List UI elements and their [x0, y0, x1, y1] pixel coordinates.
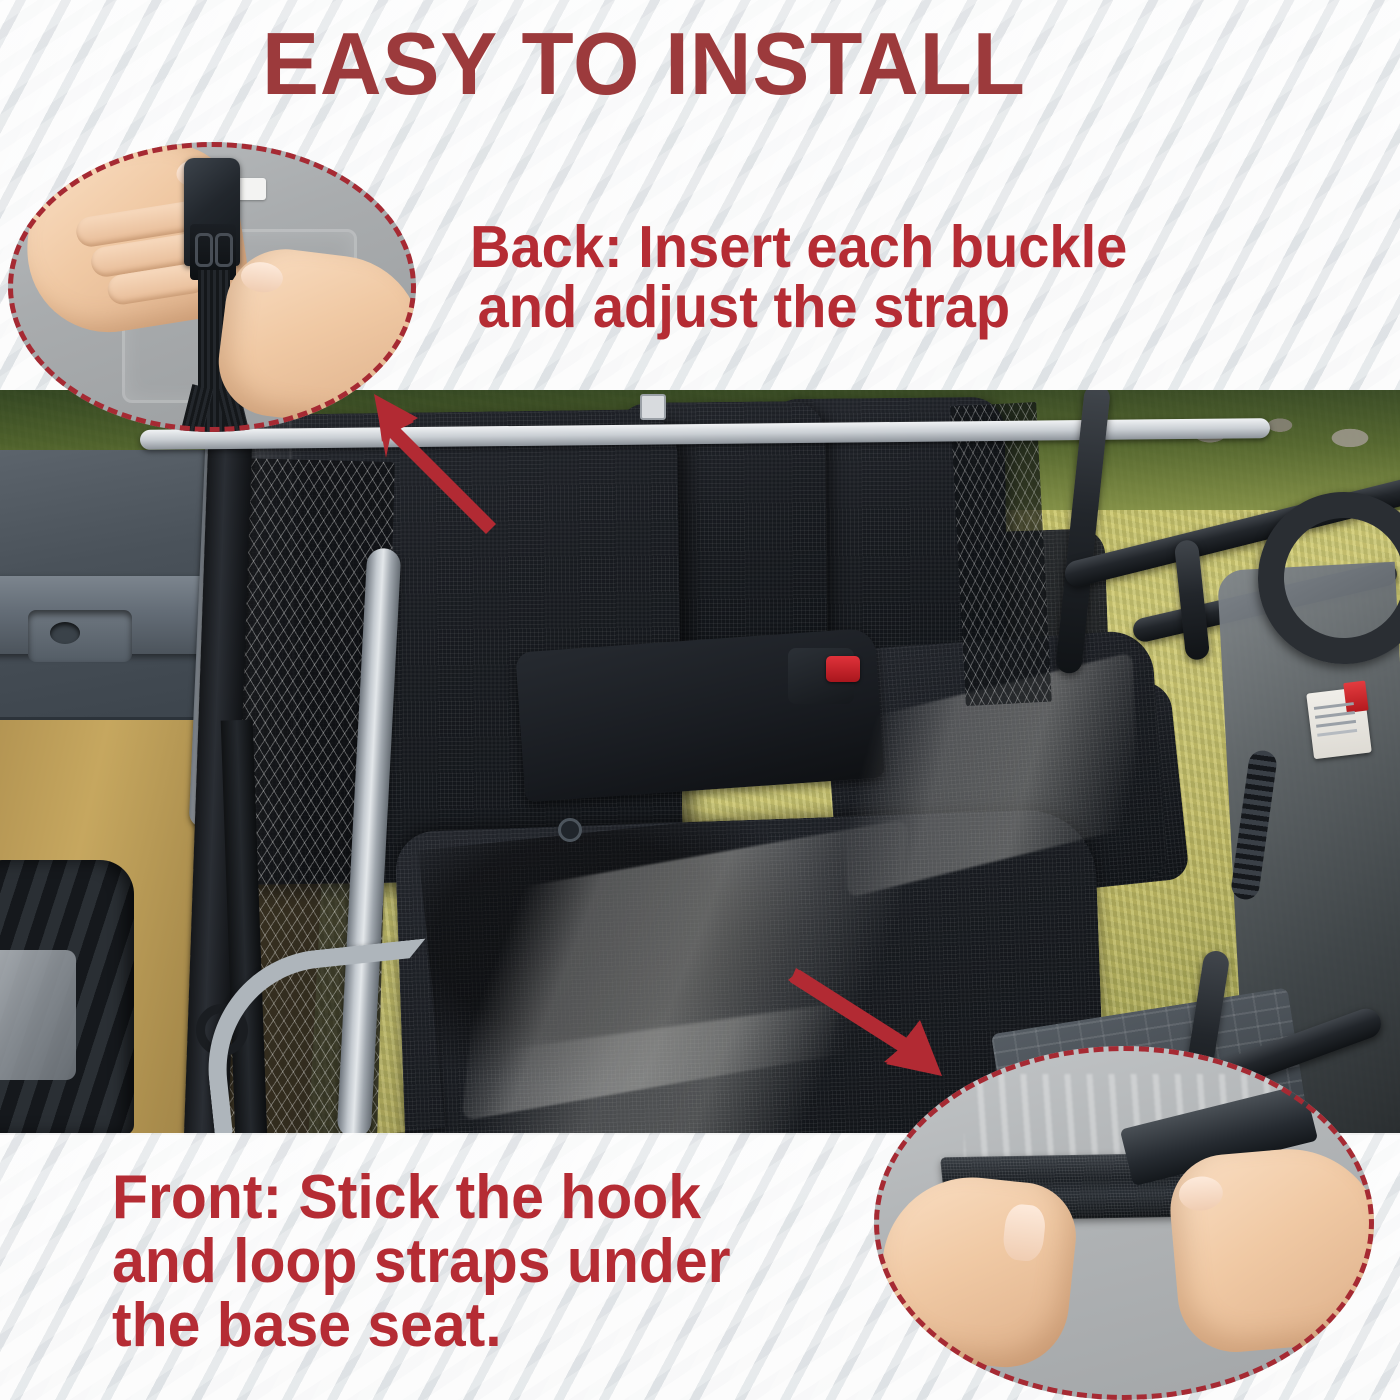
front-instruction-line-3: the base seat.: [112, 1294, 731, 1358]
right-hand-2: [1166, 1141, 1374, 1357]
infographic-canvas: EASY TO INSTALL Back: Insert each buckle…: [0, 0, 1400, 1400]
back-instruction-line-1: Back: Insert each buckle: [470, 214, 1127, 280]
buckle-closeup-callout: [8, 142, 416, 432]
hang-tag: [1306, 687, 1372, 760]
hook-loop-closeup-callout: [874, 1046, 1374, 1400]
product-photo: [0, 390, 1400, 1135]
page-title: EASY TO INSTALL: [262, 22, 1026, 106]
back-instruction-line-2: and adjust the strap: [470, 278, 1127, 338]
wheel-rim: [0, 950, 76, 1080]
seat-pivot-knob: [558, 818, 582, 842]
front-instruction-line-1: Front: Stick the hook: [112, 1166, 731, 1230]
back-instruction: Back: Insert each buckle and adjust the …: [470, 218, 1127, 337]
seatbelt-release-button: [826, 656, 860, 682]
front-instruction: Front: Stick the hook and loop straps un…: [112, 1166, 731, 1358]
cargo-net-right: [950, 402, 1052, 706]
cup-holder: [28, 610, 132, 662]
right-hand: [213, 242, 416, 432]
trim-badge: [640, 394, 666, 420]
front-instruction-line-2: and loop straps under: [112, 1230, 731, 1294]
